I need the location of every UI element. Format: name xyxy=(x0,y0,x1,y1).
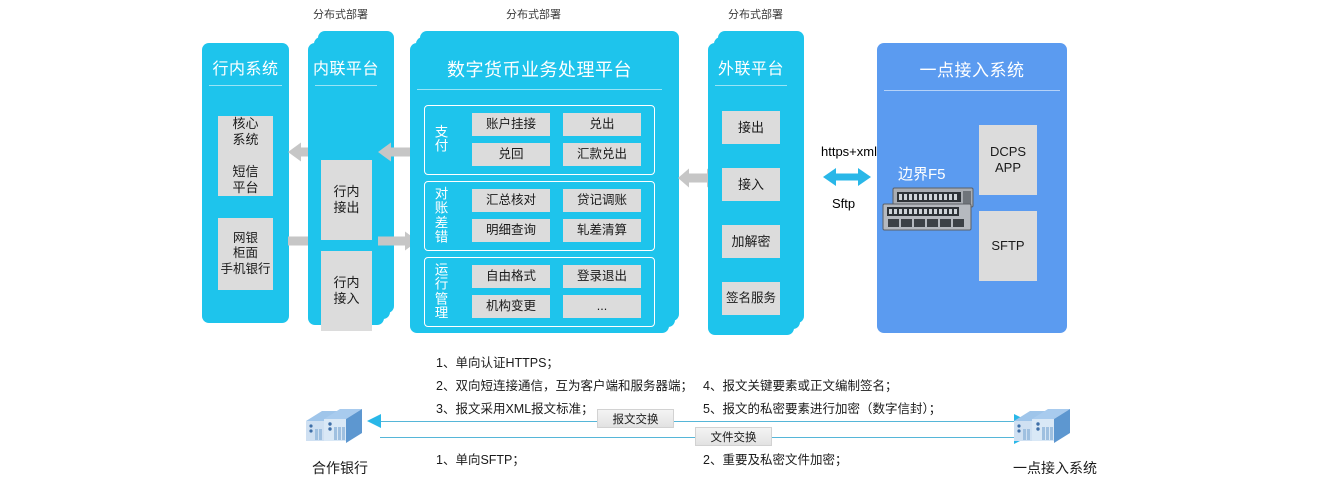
service-exchange-out[interactable]: 兑出 xyxy=(563,113,641,136)
service-account-binding[interactable]: 账户挂接 xyxy=(472,113,550,136)
note-right-5: 5、报文的私密要素进行加密（数字信封）； xyxy=(703,398,941,417)
box-signature-service[interactable]: 签名服务 xyxy=(722,282,780,315)
divider xyxy=(417,89,662,90)
distributed-deployment-label-3: 分布式部署 xyxy=(728,6,783,22)
panel-title-intranet-platform: 内联平台 xyxy=(308,43,384,79)
diagram-canvas: 分布式部署 分布式部署 分布式部署 行内系统 核心 系统 短信 平台 网银 柜面… xyxy=(0,0,1333,483)
service-label: 贷记调账 xyxy=(577,193,627,208)
box-label: 核心 系统 短信 平台 xyxy=(232,116,258,195)
group-operation-management: 运行管理 自由格式 登录退出 机构变更 ... xyxy=(424,257,655,327)
note-left-2: 2、双向短连接通信，互为客户端和服务器端； xyxy=(436,375,693,394)
service-label: 明细查询 xyxy=(486,223,536,238)
server-icon-single-access-system xyxy=(1008,403,1078,456)
distributed-deployment-label-2: 分布式部署 xyxy=(506,6,561,22)
box-label: 行内 接入 xyxy=(333,275,359,307)
group-label-reconciliation: 对账差错 xyxy=(433,187,450,244)
tag-file-exchange[interactable]: 文件交换 xyxy=(695,427,772,446)
panel-bank-internal-system[interactable]: 行内系统 核心 系统 短信 平台 网银 柜面 手机银行 xyxy=(202,43,289,323)
panel-intranet-platform[interactable]: 内联平台 行内 接出 行内 接入 xyxy=(308,43,384,325)
box-label: 网银 柜面 手机银行 xyxy=(220,231,270,277)
panel-single-access-system[interactable]: 一点接入系统 边界F5 xyxy=(877,43,1067,333)
arrow-protocol-bidirectional xyxy=(823,166,871,193)
network-switch-icon xyxy=(875,186,983,239)
service-netting-settlement[interactable]: 轧差清算 xyxy=(563,219,641,242)
service-free-format[interactable]: 自由格式 xyxy=(472,265,550,288)
box-label: 接入 xyxy=(738,177,764,193)
divider xyxy=(315,85,377,86)
box-core-system[interactable]: 核心 系统 短信 平台 xyxy=(218,116,273,196)
box-label: 加解密 xyxy=(731,234,770,250)
box-encrypt-decrypt[interactable]: 加解密 xyxy=(722,225,780,258)
box-intranet-outbound[interactable]: 行内 接出 xyxy=(321,160,372,240)
box-external-outbound[interactable]: 接出 xyxy=(722,111,780,144)
service-label: 汇总核对 xyxy=(486,193,536,208)
box-intranet-inbound[interactable]: 行内 接入 xyxy=(321,251,372,331)
tag-label: 报文交换 xyxy=(613,411,659,427)
tag-message-exchange[interactable]: 报文交换 xyxy=(597,409,674,428)
service-label: 账户挂接 xyxy=(486,117,536,132)
note-left-3: 3、报文采用XML报文标准； xyxy=(436,398,594,417)
distributed-deployment-label-1: 分布式部署 xyxy=(313,6,368,22)
panel-title-external-platform: 外联平台 xyxy=(708,43,794,79)
box-external-inbound[interactable]: 接入 xyxy=(722,168,780,201)
server-icon-partner-bank xyxy=(300,403,370,456)
group-label-payment: 支付 xyxy=(433,126,450,155)
panel-external-platform[interactable]: 外联平台 接出 接入 加解密 签名服务 xyxy=(708,43,794,335)
service-label: ... xyxy=(597,299,607,314)
service-exchange-back[interactable]: 兑回 xyxy=(472,143,550,166)
service-label: 兑出 xyxy=(589,117,614,132)
service-credit-adjustment[interactable]: 贷记调账 xyxy=(563,189,641,212)
note-bottom-left-1: 1、单向SFTP； xyxy=(436,449,525,468)
divider xyxy=(884,90,1060,91)
protocol-label-sftp: Sftp xyxy=(832,196,855,211)
service-label: 兑回 xyxy=(498,147,523,162)
box-label: SFTP xyxy=(991,238,1024,254)
service-institution-change[interactable]: 机构变更 xyxy=(472,295,550,318)
box-label: DCPS APP xyxy=(990,144,1026,176)
service-remittance-exchange-out[interactable]: 汇款兑出 xyxy=(563,143,641,166)
service-summary-check[interactable]: 汇总核对 xyxy=(472,189,550,212)
f5-boundary-label: 边界F5 xyxy=(898,163,946,184)
panel-title-bank-internal-system: 行内系统 xyxy=(202,43,289,79)
group-payment: 支付 账户挂接 兑出 兑回 汇款兑出 xyxy=(424,105,655,175)
service-label: 机构变更 xyxy=(486,299,536,314)
flowline-message-exchange xyxy=(380,421,1018,422)
divider xyxy=(715,85,787,86)
note-left-1: 1、单向认证HTTPS； xyxy=(436,352,559,371)
box-ebank-counter-mobile[interactable]: 网银 柜面 手机银行 xyxy=(218,218,273,290)
service-label: 汇款兑出 xyxy=(577,147,627,162)
service-more[interactable]: ... xyxy=(563,295,641,318)
panel-title-single-access-system: 一点接入系统 xyxy=(877,43,1067,81)
service-detail-query[interactable]: 明细查询 xyxy=(472,219,550,242)
divider xyxy=(209,85,282,86)
service-label: 自由格式 xyxy=(486,269,536,284)
box-label: 行内 接出 xyxy=(333,184,359,216)
panel-title-dcep-platform: 数字货币业务处理平台 xyxy=(410,43,669,82)
panel-dcep-business-platform[interactable]: 数字货币业务处理平台 支付 账户挂接 兑出 兑回 汇款兑出 对账差错 汇总核对 … xyxy=(410,43,669,333)
server-label-partner-bank: 合作银行 xyxy=(295,458,385,478)
service-label: 轧差清算 xyxy=(577,223,627,238)
service-login-logout[interactable]: 登录退出 xyxy=(563,265,641,288)
note-bottom-right-2: 2、重要及私密文件加密； xyxy=(703,449,847,468)
server-label-single-access-system: 一点接入系统 xyxy=(995,458,1115,478)
tag-label: 文件交换 xyxy=(711,429,757,445)
service-label: 登录退出 xyxy=(577,269,627,284)
protocol-label-https-xml: https+xml xyxy=(821,144,877,159)
box-dcps-app[interactable]: DCPS APP xyxy=(979,125,1037,195)
note-right-4: 4、报文关键要素或正文编制签名； xyxy=(703,375,897,394)
box-sftp[interactable]: SFTP xyxy=(979,211,1037,281)
box-label: 接出 xyxy=(738,120,764,136)
group-reconciliation-error: 对账差错 汇总核对 贷记调账 明细查询 轧差清算 xyxy=(424,181,655,251)
group-label-operation: 运行管理 xyxy=(433,263,450,320)
box-label: 签名服务 xyxy=(726,291,776,306)
